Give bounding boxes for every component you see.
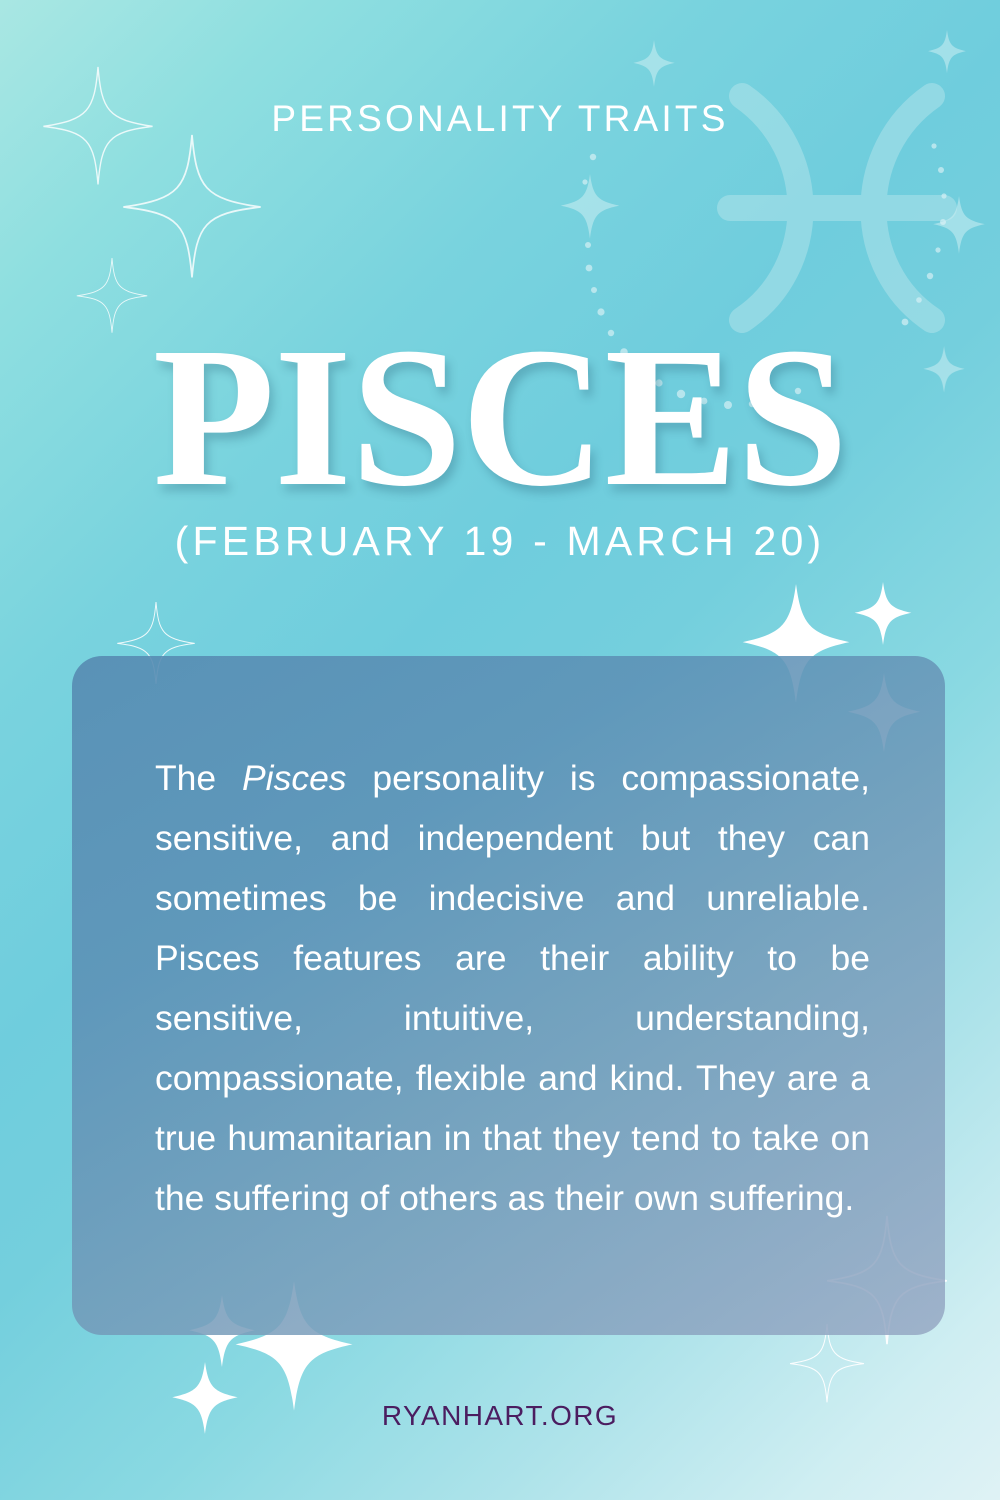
zodiac-poster: PERSONALITY TRAITS PISCES (FEBRUARY 19 -… — [0, 0, 1000, 1500]
description-rest: personality is compassionate, sensitive,… — [155, 758, 870, 1218]
description-emphasis: Pisces — [242, 758, 347, 798]
site-attribution: RYANHART.ORG — [0, 1400, 1000, 1432]
page-title: PISCES — [0, 318, 1000, 518]
kicker-label: PERSONALITY TRAITS — [0, 98, 1000, 140]
description-text: The Pisces personality is compassionate,… — [155, 748, 870, 1228]
description-lead: The — [155, 758, 242, 798]
date-range-label: (FEBRUARY 19 - MARCH 20) — [0, 518, 1000, 565]
